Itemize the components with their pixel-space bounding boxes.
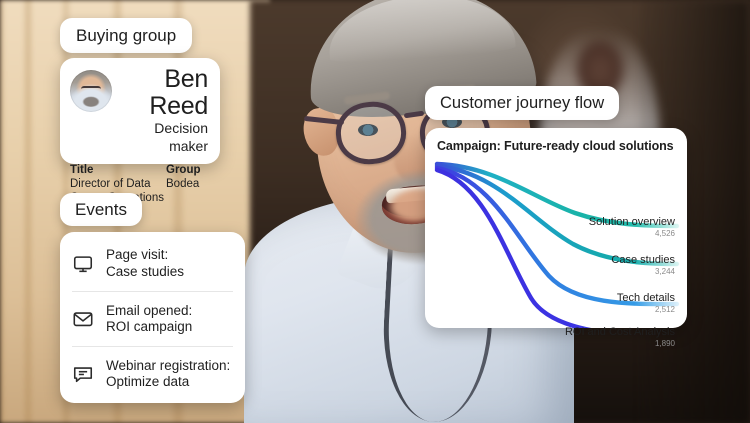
flow-label-tech-details: Tech details 2,512 [617,292,675,315]
flow-label-value: 4,526 [589,229,675,239]
flow-line-case-studies [437,166,677,264]
buying-group-pill[interactable]: Buying group [60,18,192,53]
campaign-title: Campaign: Future-ready cloud solutions [437,139,675,153]
flow-label-name: Solution overview [589,216,675,228]
customer-journey-flow-card[interactable]: Campaign: Future-ready cloud solutions [425,128,687,328]
flow-label-solution-overview: Solution overview 4,526 [589,216,675,239]
flow-label-case-studies: Case studies 3,244 [611,254,675,277]
event-line2: ROI campaign [106,319,192,334]
customer-journey-flow-pill-label: Customer journey flow [440,94,604,113]
buying-group-pill-label: Buying group [76,26,176,46]
flow-label-value: 3,244 [611,267,675,277]
list-item[interactable]: Email opened: ROI campaign [72,291,233,346]
flow-label-name: Case studies [611,254,675,266]
event-text: Email opened: ROI campaign [106,303,192,336]
speech-bubble-icon [72,363,94,385]
event-line1: Page visit: [106,247,168,262]
event-line2: Case studies [106,264,184,279]
flow-label-name: ROI and Cost Analysis [565,326,675,338]
profile-role: Decision maker [121,119,208,155]
list-item[interactable]: Page visit: Case studies [72,236,233,291]
events-card[interactable]: Page visit: Case studies Email opened: R… [60,232,245,403]
event-text: Webinar registration: Optimize data [106,358,230,391]
avatar [70,70,112,112]
profile-group-value: Bodea [166,177,201,191]
profile-group-label: Group [166,163,201,177]
buying-group-profile-card[interactable]: Ben Reed Decision maker Title Director o… [60,58,220,164]
flow-chart: Solution overview 4,526 Case studies 3,2… [425,158,687,328]
profile-group-field: Group Bodea [166,163,201,205]
customer-journey-flow-pill[interactable]: Customer journey flow [425,86,619,120]
event-line1: Email opened: [106,303,192,318]
profile-name: Ben Reed [121,66,208,120]
events-pill[interactable]: Events [60,193,142,226]
list-item[interactable]: Webinar registration: Optimize data [72,346,233,401]
profile-identity: Ben Reed Decision maker [121,66,210,155]
flow-label-name: Tech details [617,292,675,304]
flow-label-value: 2,512 [617,305,675,315]
flow-label-roi-cost-analysis: ROI and Cost Analysis 1,890 [565,326,675,349]
event-text: Page visit: Case studies [106,247,184,280]
profile-title-label: Title [70,163,166,177]
events-pill-label: Events [75,200,127,220]
envelope-icon [72,308,94,330]
screenshot-stage: Buying group Ben Reed Decision maker Tit… [0,0,750,423]
flow-label-value: 1,890 [565,339,675,349]
monitor-icon [72,253,94,275]
event-line1: Webinar registration: [106,358,230,373]
event-line2: Optimize data [106,374,189,389]
profile-header: Ben Reed Decision maker [70,66,210,155]
